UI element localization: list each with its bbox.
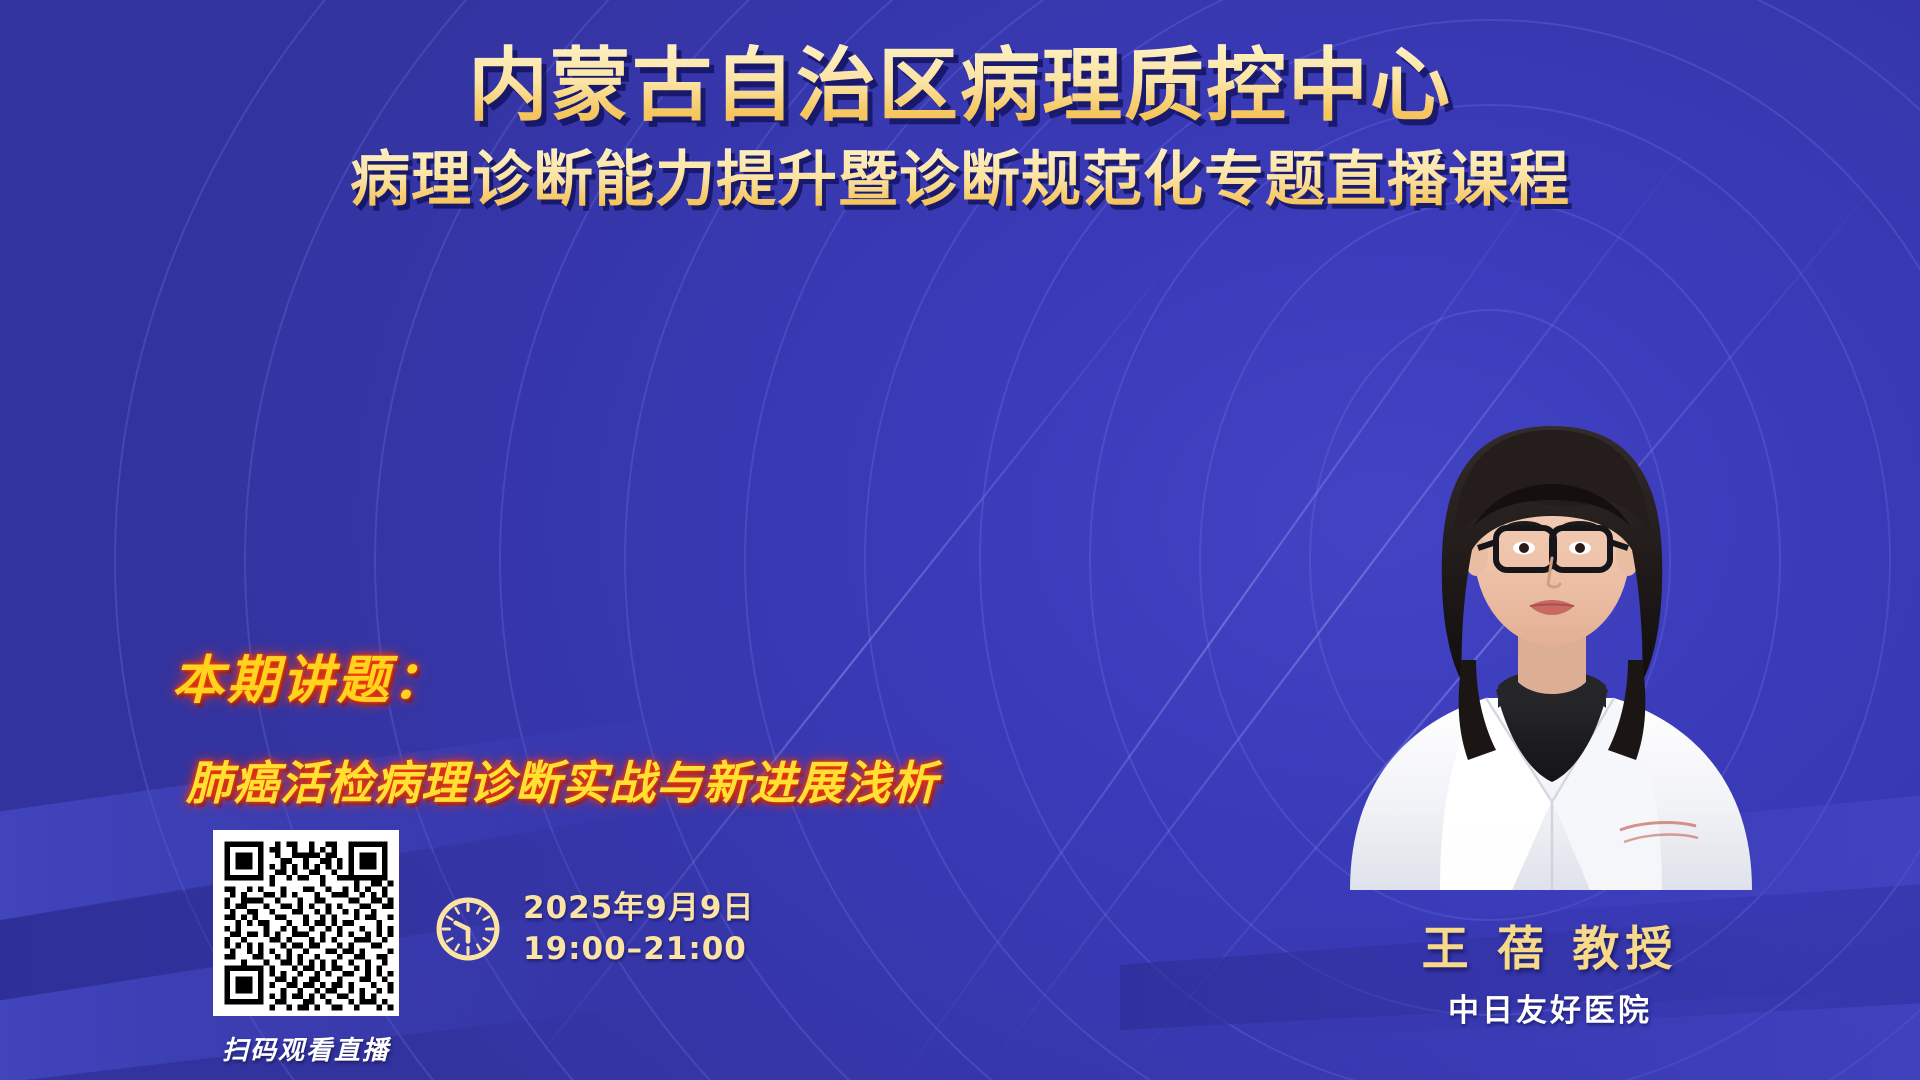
page-title: 内蒙古自治区病理质控中心 (0, 44, 1920, 129)
page-subtitle: 病理诊断能力提升暨诊断规范化专题直播课程 (0, 147, 1920, 213)
speaker-name: 王 蓓 教授 (1330, 910, 1770, 979)
topic-label: 本期讲题： (172, 638, 447, 713)
speaker-organization: 中日友好医院 (1330, 985, 1770, 1030)
poster-canvas: 内蒙古自治区病理质控中心 病理诊断能力提升暨诊断规范化专题直播课程 本期讲题： … (0, 0, 1920, 1080)
datetime-text: 2025年9月9日 19:00–21:00 (523, 888, 754, 970)
topic-title: 肺癌活检病理诊断实战与新进展浅析 (186, 747, 938, 813)
poster-heading-block: 内蒙古自治区病理质控中心 病理诊断能力提升暨诊断规范化专题直播课程 (0, 44, 1920, 213)
event-date: 2025年9月9日 (523, 888, 754, 929)
clock-icon (435, 896, 501, 962)
qr-code-icon[interactable] (213, 830, 399, 1016)
speaker-portrait (1290, 330, 1810, 890)
datetime-block: 2025年9月9日 19:00–21:00 (435, 888, 754, 970)
event-time: 19:00–21:00 (523, 929, 754, 970)
qr-caption: 扫码观看直播 (213, 1030, 399, 1067)
qr-block: 扫码观看直播 (213, 830, 399, 1067)
